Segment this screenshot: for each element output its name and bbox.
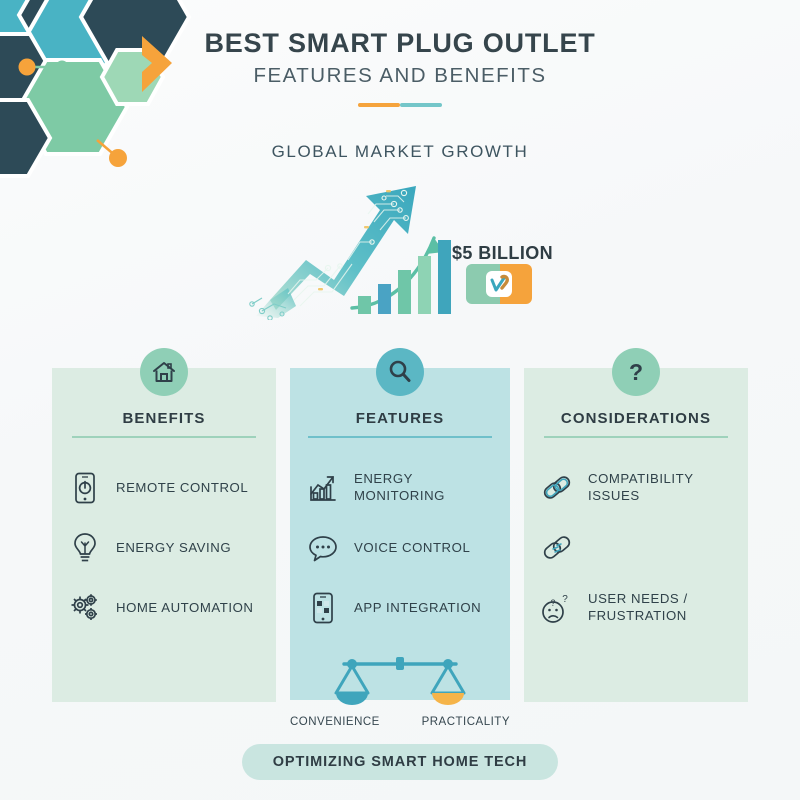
growth-section-label: GLOBAL MARKET GROWTH xyxy=(0,142,800,162)
list-item-label: ENERGY SAVING xyxy=(116,540,231,557)
bottom-banner: OPTIMIZING SMART HOME TECH xyxy=(242,744,558,780)
rule-segment-teal xyxy=(400,103,442,107)
bottom-banner-label: OPTIMIZING SMART HOME TECH xyxy=(273,754,528,770)
svg-text:?: ? xyxy=(562,594,568,605)
list-item[interactable]: APP INTEGRATION xyxy=(306,590,506,626)
house-icon xyxy=(140,348,188,396)
svg-text:?: ? xyxy=(629,359,643,385)
header: BEST SMART PLUG OUTLET FEATURES AND BENE… xyxy=(0,28,800,107)
title-rule xyxy=(0,103,800,107)
confused-face-icon: ? ? xyxy=(540,590,574,626)
list-item-label: USER NEEDS / FRUSTRATION xyxy=(588,591,748,625)
banknote-icon xyxy=(466,264,532,304)
list-item[interactable]: COMPATIBILITY ISSUES xyxy=(540,470,748,506)
divider-features xyxy=(308,436,492,438)
list-considerations: COMPATIBILITY ISSUES xyxy=(540,470,748,650)
page-title: BEST SMART PLUG OUTLET xyxy=(0,28,800,60)
broken-chain-icon xyxy=(540,530,574,566)
svg-text:?: ? xyxy=(550,598,555,608)
list-item[interactable]: ? ? USER NEEDS / FRUSTRATION xyxy=(540,590,748,626)
list-item-label: REMOTE CONTROL xyxy=(116,480,248,497)
balance-scale-icon xyxy=(330,655,470,713)
lightbulb-icon xyxy=(68,530,102,566)
scale-labels: CONVENIENCE PRACTICALITY xyxy=(290,716,510,728)
list-item-label: VOICE CONTROL xyxy=(354,540,470,557)
rule-segment-orange xyxy=(358,103,400,107)
infographic-canvas: BEST SMART PLUG OUTLET FEATURES AND BENE… xyxy=(0,0,800,800)
list-item-label: APP INTEGRATION xyxy=(354,600,481,617)
column-title-benefits: BENEFITS xyxy=(52,410,276,427)
page-subtitle: FEATURES AND BENEFITS xyxy=(0,64,800,88)
question-mark-icon: ? xyxy=(612,348,660,396)
list-item-label: ENERGY MONITORING xyxy=(354,471,506,505)
growth-chart-icon xyxy=(306,470,340,506)
speech-bubble-icon xyxy=(306,530,340,566)
column-title-features: FEATURES xyxy=(290,410,510,427)
list-benefits: REMOTE CONTROL ENERGY SAVING xyxy=(68,470,272,650)
list-item[interactable]: VOICE CONTROL xyxy=(306,530,506,566)
list-features: ENERGY MONITORING VOICE CONTROL xyxy=(306,470,506,650)
market-value-label: $5 BILLION xyxy=(452,243,553,264)
phone-power-icon xyxy=(68,470,102,506)
list-item[interactable]: ENERGY MONITORING xyxy=(306,470,506,506)
gears-icon xyxy=(68,590,102,626)
divider-considerations xyxy=(544,436,728,438)
list-item-label: HOME AUTOMATION xyxy=(116,600,253,617)
phone-apps-icon xyxy=(306,590,340,626)
column-title-considerations: CONSIDERATIONS xyxy=(524,410,748,427)
list-item[interactable]: ENERGY SAVING xyxy=(68,530,272,566)
scale-label-left: CONVENIENCE xyxy=(290,716,380,728)
list-item[interactable] xyxy=(540,530,748,566)
chain-link-icon xyxy=(540,470,574,506)
list-item[interactable]: REMOTE CONTROL xyxy=(68,470,272,506)
magnifier-icon xyxy=(376,348,424,396)
list-item-label: COMPATIBILITY ISSUES xyxy=(588,471,748,505)
divider-benefits xyxy=(72,436,256,438)
list-item[interactable]: HOME AUTOMATION xyxy=(68,590,272,626)
scale-label-right: PRACTICALITY xyxy=(422,716,510,728)
